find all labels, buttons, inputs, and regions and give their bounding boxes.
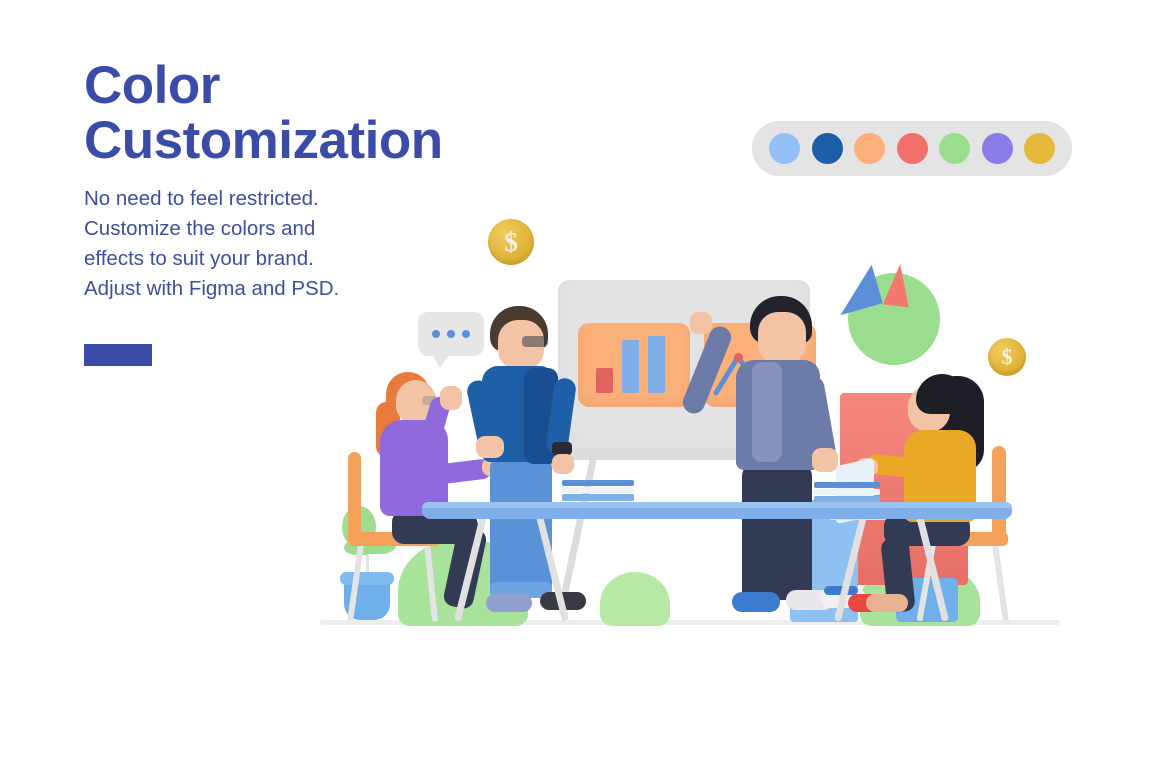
color-swatch-light-blue[interactable] — [769, 133, 800, 164]
color-swatch-coral-red[interactable] — [897, 133, 928, 164]
bar-chart-bar — [596, 368, 613, 393]
blazer-lapel — [752, 362, 782, 462]
book — [562, 480, 634, 486]
color-swatch-peach[interactable] — [854, 133, 885, 164]
speech-bubble-dot — [432, 330, 440, 338]
legs — [742, 464, 812, 600]
hand — [476, 436, 504, 458]
book-stack — [562, 480, 634, 502]
book — [814, 482, 880, 488]
speech-bubble-dot — [462, 330, 470, 338]
bar-chart-bar — [648, 336, 665, 393]
accent-bar — [84, 344, 152, 366]
bar-chart-card — [578, 323, 690, 407]
chair-leg — [992, 544, 1009, 622]
speech-bubble-tail — [432, 354, 450, 368]
hand — [812, 448, 838, 472]
head — [758, 312, 806, 364]
bar-chart-bar — [622, 340, 639, 393]
pie-chart-slice-red — [883, 263, 913, 307]
speech-bubble-dot — [447, 330, 455, 338]
page-title: Color Customization — [84, 58, 604, 168]
hand — [552, 454, 574, 474]
color-swatch-gold[interactable] — [1024, 133, 1055, 164]
book-stack — [814, 482, 880, 502]
book — [562, 494, 634, 501]
color-palette-bar[interactable] — [752, 121, 1072, 176]
book — [562, 487, 634, 493]
line-chart-marker — [734, 353, 743, 362]
whiteboard-leg — [561, 457, 597, 597]
page-title-line-1: Color — [84, 58, 604, 113]
glasses-icon — [522, 336, 548, 347]
illustration: $ $ — [300, 180, 1090, 650]
color-swatch-purple[interactable] — [982, 133, 1013, 164]
color-swatch-light-green[interactable] — [939, 133, 970, 164]
page-title-line-2: Customization — [84, 113, 604, 168]
hand — [440, 386, 462, 410]
color-swatch-navy-blue[interactable] — [812, 133, 843, 164]
chair-backrest — [992, 446, 1006, 546]
shoe — [732, 592, 780, 612]
shoe — [486, 594, 532, 612]
poster-canvas: Color Customization No need to feel rest… — [0, 0, 1170, 780]
shrub-icon — [600, 572, 670, 626]
table-top-highlight — [422, 502, 1012, 508]
dollar-coin-icon: $ — [488, 219, 534, 265]
plant-pot-rim — [340, 572, 394, 585]
hand — [690, 312, 712, 334]
dollar-coin-icon: $ — [988, 338, 1026, 376]
shoe — [866, 594, 908, 612]
speech-bubble-icon — [418, 312, 484, 356]
book — [814, 489, 880, 495]
